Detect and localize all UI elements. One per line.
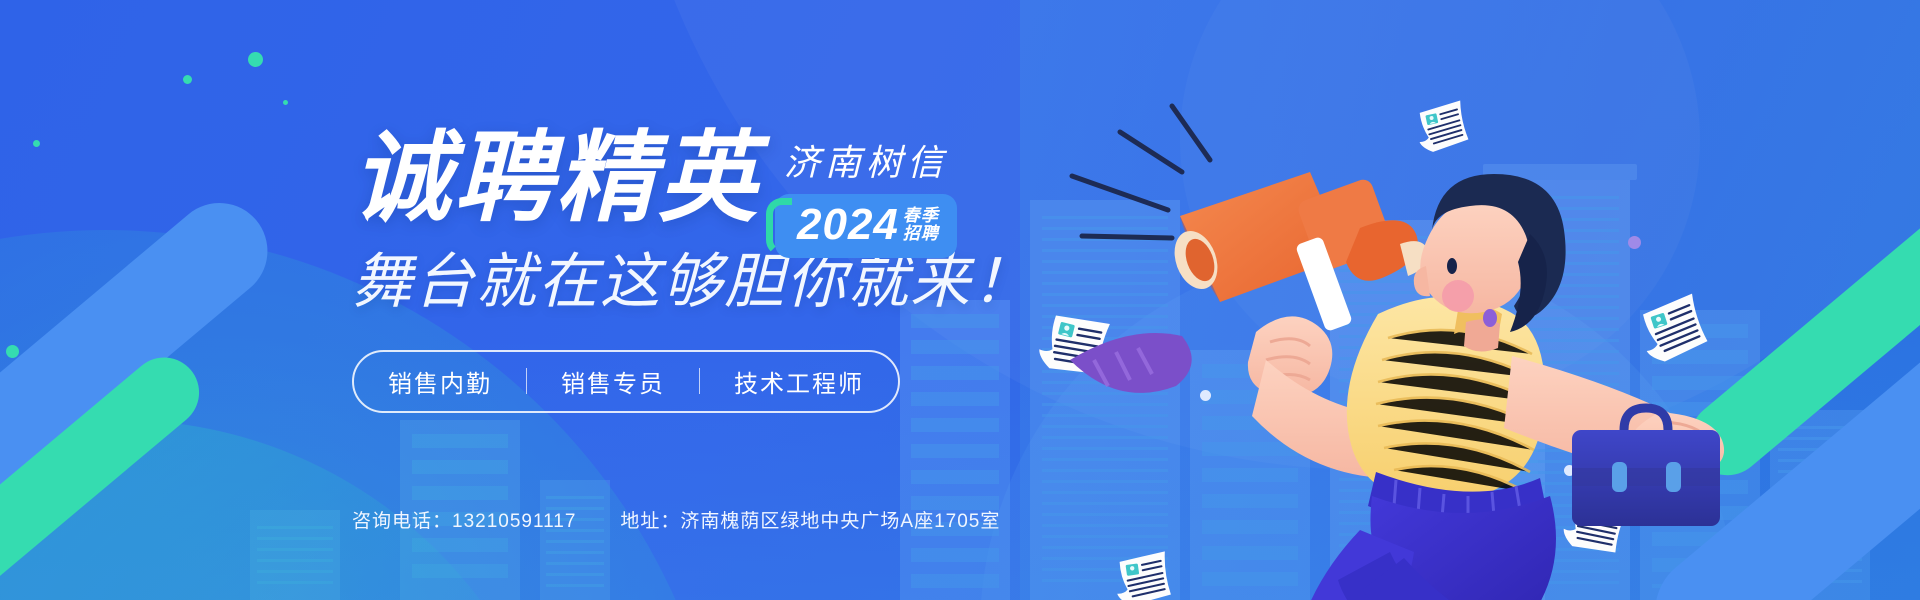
badge-accent-stroke	[766, 198, 792, 256]
badge-year: 2024	[797, 200, 899, 250]
recruitment-banner: 诚聘精英 舞台就在这够胆你就来！ 销售内勤 销售专员 技术工程师 济南树信 20…	[0, 0, 1920, 600]
decor-dot	[183, 75, 192, 84]
contact-address: 地址：济南槐荫区绿地中央广场A座1705室	[620, 506, 1000, 533]
decor-dot	[33, 140, 40, 147]
campaign-badge: 2024 春季 招聘	[775, 194, 957, 258]
badge-season: 春季	[903, 207, 939, 225]
job-tag-2[interactable]: 技术工程师	[734, 364, 864, 399]
job-tag-0[interactable]: 销售内勤	[388, 364, 492, 399]
megaphone-icon	[1167, 172, 1429, 332]
page-title: 诚聘精英	[352, 128, 1112, 229]
illustration-person-with-megaphone	[1060, 60, 1760, 600]
company-name: 济南树信	[775, 134, 957, 186]
eye	[1447, 258, 1457, 274]
badge-recruiting: 招聘	[903, 225, 939, 243]
decor-dot	[283, 100, 288, 105]
decor-dot	[6, 345, 19, 358]
contact-info: 咨询电话：13210591117 地址：济南槐荫区绿地中央广场A座1705室	[352, 506, 1000, 533]
job-tags-pill[interactable]: 销售内勤 销售专员 技术工程师	[352, 350, 900, 413]
copy-block: 诚聘精英 舞台就在这够胆你就来！ 销售内勤 销售专员 技术工程师	[352, 128, 1112, 413]
subtitle: 舞台就在这够胆你就来！	[352, 247, 1112, 316]
tag-divider	[526, 368, 527, 394]
decor-dot	[248, 52, 263, 67]
contact-phone: 咨询电话：13210591117	[352, 506, 576, 533]
cheek	[1442, 280, 1474, 312]
brand-block: 济南树信 2024 春季 招聘	[775, 134, 957, 258]
tag-divider	[699, 368, 700, 394]
job-tag-1[interactable]: 销售专员	[561, 364, 665, 399]
